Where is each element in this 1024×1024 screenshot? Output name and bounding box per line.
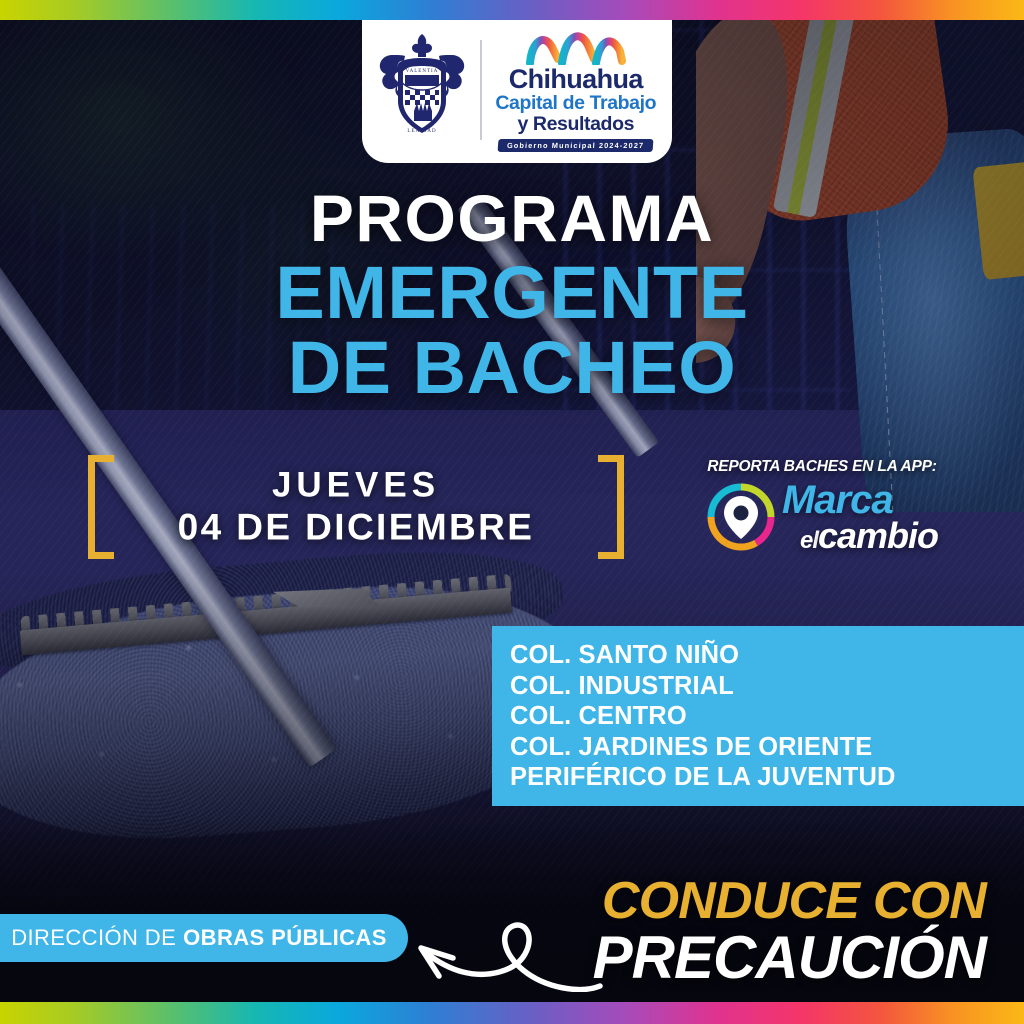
- poster-canvas: VALENTIA LEALTAD: [0, 0, 1024, 1024]
- brand-tagline-1: Capital de Trabajo: [495, 93, 656, 114]
- list-item: COL. JARDINES DE ORIENTE: [510, 732, 1024, 763]
- date-text: JUEVES 04 DE DICIEMBRE: [122, 465, 590, 550]
- map-pin-icon: [706, 482, 776, 552]
- app-name-line-2: elcambio: [800, 519, 938, 552]
- brand-government-bar: Gobierno Municipal 2024-2027: [498, 139, 654, 152]
- department-prefix: DIRECCIÓN DE: [11, 925, 176, 951]
- date-bracket-block: JUEVES 04 DE DICIEMBRE: [88, 455, 624, 559]
- svg-text:LEALTAD: LEALTAD: [407, 129, 436, 134]
- department-tag: DIRECCIÓN DE OBRAS PÚBLICAS: [0, 914, 408, 962]
- chihuahua-mountains-icon: [522, 27, 630, 65]
- top-gradient-bar: [0, 0, 1024, 20]
- coat-of-arms-icon: VALENTIA LEALTAD: [374, 31, 470, 149]
- caution-block: CONDUCE CON PRECAUCIÓN: [593, 875, 986, 988]
- app-logo-lockup[interactable]: Marca elcambio: [672, 482, 972, 552]
- app-name-words: Marca elcambio: [782, 482, 938, 552]
- logo-divider: [480, 40, 482, 140]
- curved-arrow-icon: [395, 902, 610, 992]
- svg-text:VALENTIA: VALENTIA: [406, 69, 439, 74]
- headline-line-3: DE BACHEO: [0, 330, 1024, 405]
- app-name-line-1: Marca: [782, 482, 893, 519]
- brand-tagline-2: y Resultados: [517, 114, 634, 135]
- list-item: COL. SANTO NIÑO: [510, 640, 1024, 671]
- bracket-left-icon: [88, 455, 114, 559]
- app-name-prefix: el: [800, 527, 818, 554]
- brand-city-name: Chihuahua: [509, 66, 643, 93]
- date-weekday: JUEVES: [122, 465, 590, 506]
- headline-block: PROGRAMA EMERGENTE DE BACHEO: [0, 185, 1024, 406]
- app-name-main: cambio: [818, 515, 938, 556]
- headline-line-1: PROGRAMA: [0, 185, 1024, 251]
- caution-line-2: PRECAUCIÓN: [593, 927, 986, 988]
- headline-line-2: EMERGENTE: [0, 255, 1024, 330]
- chihuahua-brand-lockup: Chihuahua Capital de Trabajo y Resultado…: [492, 27, 661, 152]
- bottom-gradient-bar: [0, 1002, 1024, 1024]
- department-name: OBRAS PÚBLICAS: [183, 925, 387, 951]
- list-item: COL. CENTRO: [510, 701, 1024, 732]
- bracket-right-icon: [598, 455, 624, 559]
- colonias-list: COL. SANTO NIÑO COL. INDUSTRIAL COL. CEN…: [492, 626, 1024, 806]
- list-item: COL. INDUSTRIAL: [510, 671, 1024, 702]
- app-promo-label: REPORTA BACHES EN LA APP:: [672, 458, 972, 476]
- list-item: PERIFÉRICO DE LA JUVENTUD: [510, 762, 1024, 793]
- brand-logo-card: VALENTIA LEALTAD: [362, 18, 672, 163]
- app-promo-block: REPORTA BACHES EN LA APP: Marca elcambio: [672, 458, 972, 552]
- caution-line-1: CONDUCE CON: [593, 875, 986, 927]
- date-full: 04 DE DICIEMBRE: [122, 506, 590, 550]
